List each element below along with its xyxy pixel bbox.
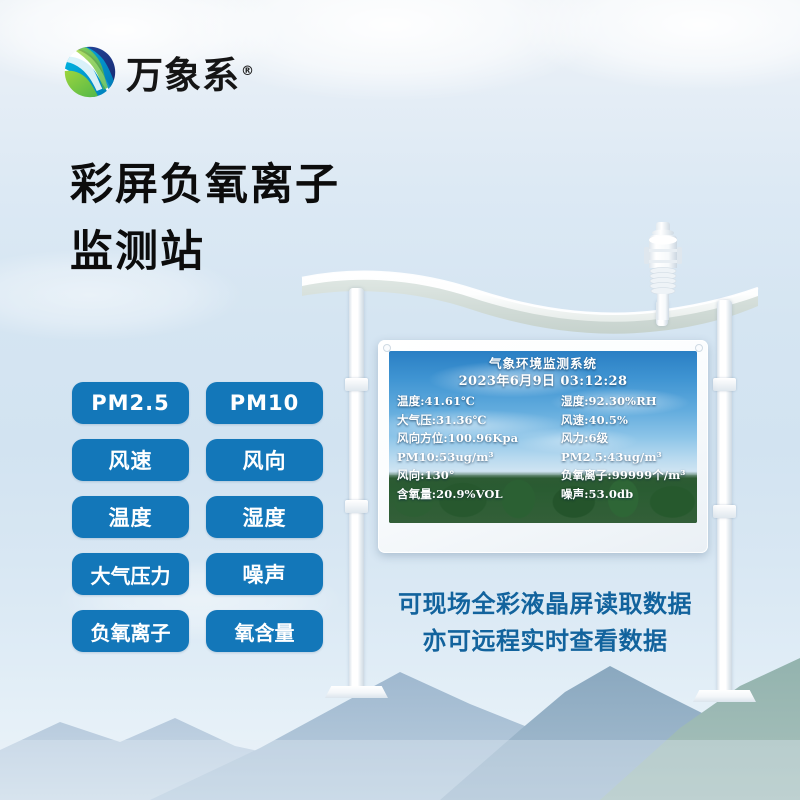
tagline-line-1: 可现场全彩液晶屏读取数据	[398, 590, 692, 618]
right-pole-bracket	[713, 378, 736, 391]
reading-pm10: PM10:53ug/m³	[397, 450, 547, 466]
right-support-pole	[717, 300, 732, 696]
reading-wind-speed: 风速:40.5%	[551, 413, 697, 429]
reading-oxygen-content: 含氧量:20.9%VOL	[397, 487, 547, 503]
product-poster: 万象系® 彩屏负氧离子 监测站 PM2.5 PM10 风速 风向 温度 湿度 大…	[0, 0, 800, 800]
reading-air-pressure: 大气压:31.36℃	[397, 413, 547, 429]
left-pole-bracket	[345, 500, 368, 513]
weather-sensor-icon	[640, 222, 686, 320]
reading-wind-force: 风力:6级	[551, 431, 697, 447]
weather-sensor-svg	[640, 222, 686, 320]
tagline-line-2: 亦可远程实时查看数据	[380, 623, 710, 660]
monitoring-station-structure: 气象环境监测系统 2023年6月9日 03:12:28 温度:41.61℃ 湿度…	[0, 0, 800, 800]
reading-noise: 噪声:53.0db	[551, 487, 697, 503]
reading-wind-direction: 风向:130°	[397, 468, 547, 484]
marketing-tagline: 可现场全彩液晶屏读取数据 亦可远程实时查看数据	[380, 586, 710, 660]
reading-pm25: PM2.5:43ug/m³	[551, 450, 697, 466]
canopy-svg	[300, 262, 760, 342]
reading-temperature: 温度:41.61℃	[397, 394, 547, 410]
screen-readings-grid: 温度:41.61℃ 湿度:92.30%RH 大气压:31.36℃ 风速:40.5…	[397, 394, 689, 502]
left-support-pole	[349, 288, 364, 692]
screen-title: 气象环境监测系统	[397, 356, 689, 372]
reading-negative-oxygen-ion: 负氧离子:99999个/m³	[551, 468, 697, 484]
right-pole-bracket	[713, 505, 736, 518]
lcd-display-frame: 气象环境监测系统 2023年6月9日 03:12:28 温度:41.61℃ 湿度…	[378, 340, 708, 553]
screen-datetime: 2023年6月9日 03:12:28	[397, 373, 689, 391]
screen-content: 气象环境监测系统 2023年6月9日 03:12:28 温度:41.61℃ 湿度…	[389, 351, 697, 523]
canopy-beam	[300, 262, 760, 347]
lcd-screen[interactable]: 气象环境监测系统 2023年6月9日 03:12:28 温度:41.61℃ 湿度…	[389, 351, 697, 523]
reading-wind-bearing: 风向方位:100.96Kpa	[397, 431, 547, 447]
left-pole-base	[325, 686, 388, 698]
left-pole-bracket	[345, 378, 368, 391]
reading-humidity: 湿度:92.30%RH	[551, 394, 697, 410]
right-pole-base	[693, 690, 756, 702]
